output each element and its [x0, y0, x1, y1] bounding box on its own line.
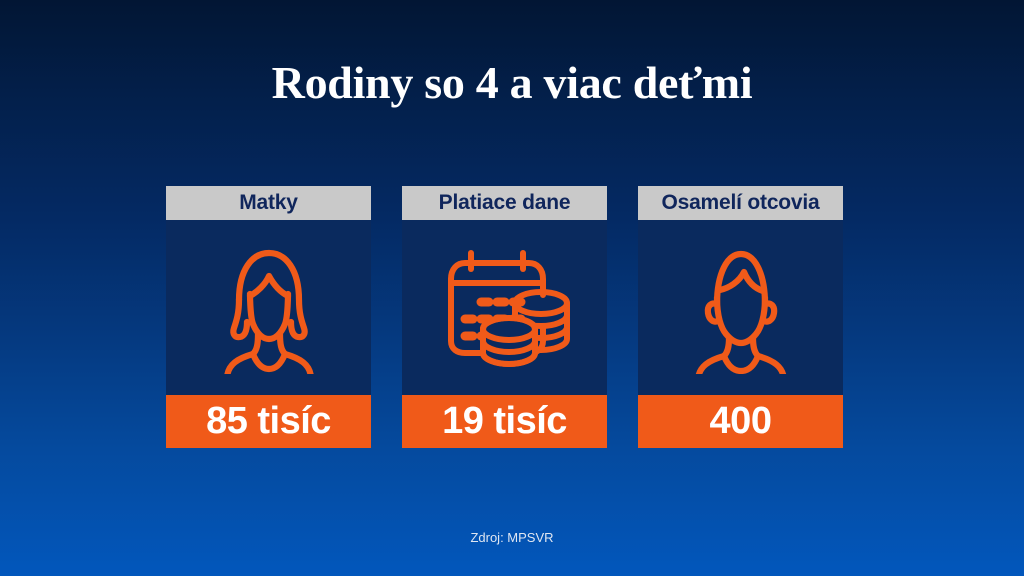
stat-card-icon-area: [638, 220, 843, 395]
infographic-slide: Rodiny so 4 a viac deťmi Matky: [0, 0, 1024, 576]
man-short-hair-icon: [677, 242, 805, 374]
calendar-coins-icon: [437, 243, 573, 373]
stat-card-platiace-dane: Platiace dane: [402, 186, 607, 448]
stat-card-osameli-otcovia: Osamelí otcovia: [638, 186, 843, 448]
stat-card-header: Matky: [166, 186, 371, 220]
stat-card-header: Platiace dane: [402, 186, 607, 220]
source-note: Zdroj: MPSVR: [0, 530, 1024, 545]
stat-card-icon-area: [166, 220, 371, 395]
woman-long-hair-icon: [205, 242, 333, 374]
stat-card-matky: Matky: [166, 186, 371, 448]
page-title: Rodiny so 4 a viac deťmi: [0, 56, 1024, 109]
stat-card-value: 400: [638, 395, 843, 448]
stat-card-header: Osamelí otcovia: [638, 186, 843, 220]
stat-card-icon-area: [402, 220, 607, 395]
stat-card-value: 19 tisíc: [402, 395, 607, 448]
stat-card-value: 85 tisíc: [166, 395, 371, 448]
stat-card-group: Matky: [166, 186, 843, 448]
